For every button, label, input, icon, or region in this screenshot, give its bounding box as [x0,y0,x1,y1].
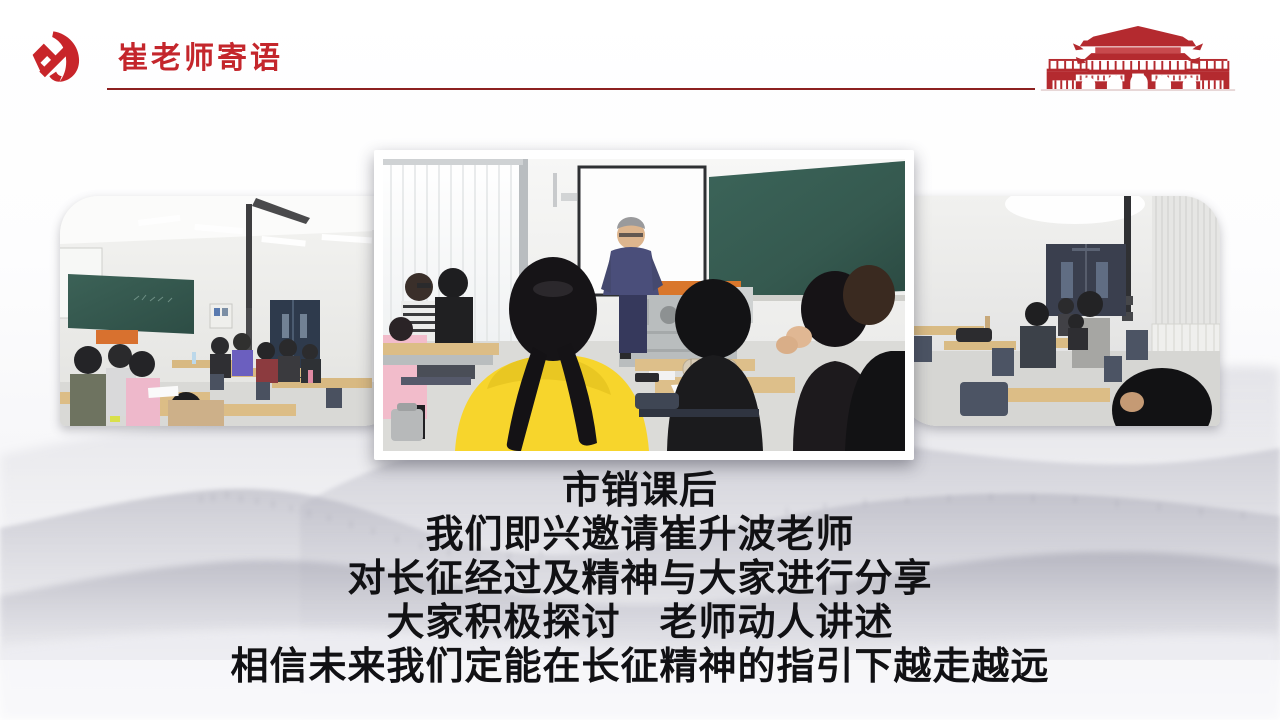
slide-header: 崔老师寄语 [0,0,1280,105]
photo-center-image [383,159,905,451]
page-title: 崔老师寄语 [118,40,283,78]
header-divider [107,88,1035,90]
photo-teacher-lecturing-center[interactable] [374,150,914,460]
message-line-3: 对长征经过及精神与大家进行分享 [0,556,1280,600]
message-text-block: 市销课后 我们即兴邀请崔升波老师 对长征经过及精神与大家进行分享 大家积极探讨 … [0,468,1280,688]
photo-classroom-group-discussion-left[interactable] [60,196,400,426]
photo-right-image [900,196,1220,426]
cpc-hammer-sickle-emblem-icon [27,28,83,84]
message-line-2: 我们即兴邀请崔升波老师 [0,512,1280,556]
tiananmen-gate-icon [1040,24,1236,92]
message-line-5: 相信未来我们定能在长征精神的指引下越走越远 [0,644,1280,688]
photo-left-image [60,196,400,426]
slide-canvas: 崔老师寄语 [0,0,1280,720]
message-line-1: 市销课后 [0,468,1280,512]
message-line-4: 大家积极探讨 老师动人讲述 [0,600,1280,644]
photo-students-discussing-right[interactable] [900,196,1220,426]
